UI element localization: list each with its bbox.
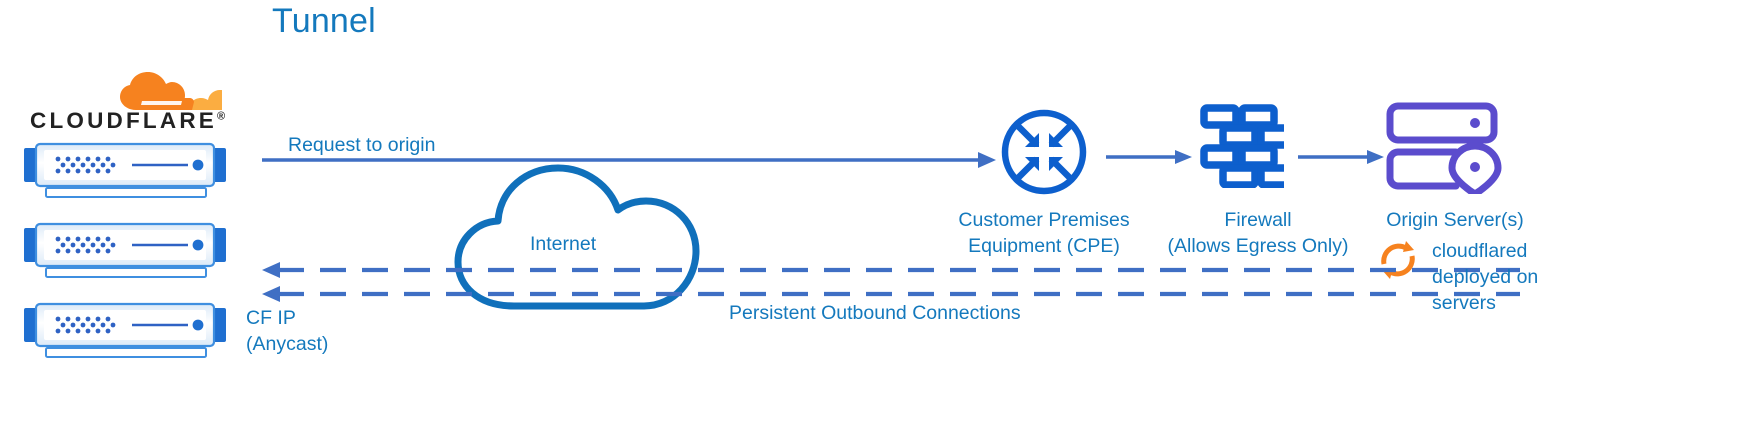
- brick-wall-icon: [1196, 104, 1284, 188]
- label-firewall-line1: Firewall: [1158, 207, 1358, 233]
- label-firewall-line2: (Allows Egress Only): [1158, 233, 1358, 259]
- cloudflare-wordmark-text: CLOUDFLARE: [30, 108, 217, 133]
- label-request-to-origin: Request to origin: [288, 132, 435, 158]
- cloudflare-wordmark: CLOUDFLARE®: [30, 108, 225, 134]
- label-origin-server-text: Origin Server(s): [1376, 207, 1534, 233]
- cloudflare-cloud-logo-icon: [118, 72, 222, 112]
- label-cloudflared-line3: servers: [1432, 290, 1552, 316]
- label-cpe-line2: Equipment (CPE): [946, 233, 1142, 259]
- label-firewall: Firewall (Allows Egress Only): [1158, 207, 1358, 259]
- server-rack-location-pin-icon: [1386, 102, 1504, 194]
- page-title: Tunnel: [272, 8, 376, 34]
- label-cloudflared-note: cloudflared deployed on servers: [1432, 238, 1552, 316]
- label-cf-ip: CF IP (Anycast): [246, 305, 328, 357]
- label-cf-ip-line2: (Anycast): [246, 331, 328, 357]
- cloudflare-logo: CLOUDFLARE®: [30, 72, 230, 134]
- label-cpe-line1: Customer Premises: [946, 207, 1142, 233]
- label-origin-server: Origin Server(s): [1376, 207, 1534, 233]
- cf-server-unit-1: [22, 140, 228, 206]
- label-persistent-outbound-connections: Persistent Outbound Connections: [729, 300, 1021, 326]
- firewall-to-origin-arrow: [1298, 150, 1384, 164]
- sync-arrows-icon: [1376, 238, 1420, 282]
- cf-server-unit-2: [22, 220, 228, 286]
- converging-arrows-circle-icon: [1000, 108, 1088, 196]
- cloud-icon: [440, 140, 720, 310]
- label-cloudflared-line1: cloudflared: [1432, 238, 1552, 264]
- cf-server-unit-3: [22, 300, 228, 366]
- label-cf-ip-line1: CF IP: [246, 305, 328, 331]
- cpe-to-firewall-arrow: [1106, 150, 1192, 164]
- trademark-symbol: ®: [217, 111, 225, 123]
- label-cpe: Customer Premises Equipment (CPE): [946, 207, 1142, 259]
- label-cloudflared-line2: deployed on: [1432, 264, 1552, 290]
- label-internet: Internet: [530, 231, 596, 257]
- diagram-canvas: Tunnel CLOUDFLARE®: [0, 0, 1754, 422]
